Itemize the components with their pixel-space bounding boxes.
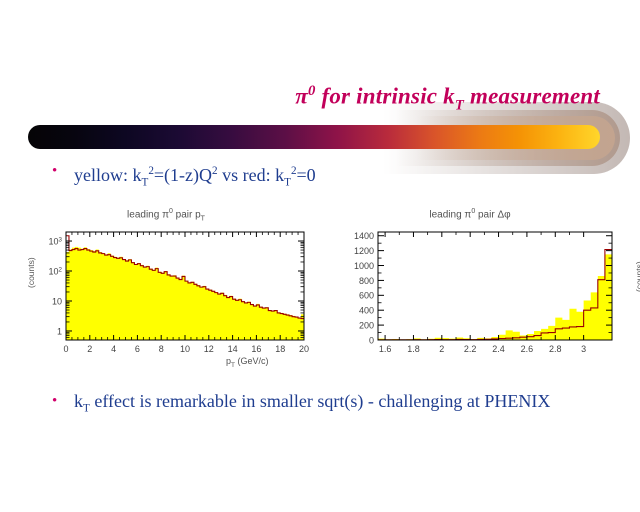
chart-left-title: leading π0 pair pT [18,208,314,222]
chart-right-title-tail: Δφ [497,209,510,220]
chart-right-title: leading π0 pair Δφ [322,208,618,220]
x-tick-label: 2 [87,344,92,354]
x-tick-label: 2 [439,344,444,354]
x-tick-label: 14 [228,344,238,354]
title-tail-text: measurement [464,84,600,109]
y-tick-label: 800 [359,276,374,286]
text-segment-3: =(1-z)Q [154,165,212,185]
y-tick-label: 1 [57,326,62,336]
chart-right-title-mid: pair [475,209,497,220]
accent-bar [28,125,600,149]
x-tick-label: 4 [111,344,116,354]
x-tick-label: 18 [275,344,285,354]
text-segment-1: T [142,177,149,189]
y-tick-label: 103 [49,236,63,247]
chart-right-ylabel: (counts) [634,261,640,292]
y-tick-label: 400 [359,306,374,316]
title-pi-superscript: 0 [308,83,316,99]
chart-left-ylabel: (counts) [26,257,36,288]
text-segment-8: =0 [297,165,316,185]
y-tick-label: 102 [49,266,63,277]
text-segment-0: k [74,391,83,411]
chart-left-canvas: 02468101214161820110102103 [18,206,314,368]
chart-left-xlabel-rest: (GeV/c) [235,356,269,366]
bullet-marker-icon: • [52,389,74,413]
bullet-marker-icon: • [52,159,74,183]
x-tick-label: 16 [251,344,261,354]
text-segment-5: vs red: k [218,165,285,185]
x-tick-label: 2.2 [464,344,477,354]
bullet-item-2-label: kT effect is remarkable in smaller sqrt(… [74,389,592,421]
x-tick-label: 10 [180,344,190,354]
text-segment-1: T [83,403,90,415]
histogram-line-red [378,250,612,340]
x-tick-label: 1.8 [407,344,420,354]
histogram-fill-yellow [66,247,304,340]
bullet-item-2: • kT effect is remarkable in smaller sqr… [52,389,592,421]
y-tick-label: 200 [359,321,374,331]
title-middle-text: for intrinsic k [316,84,455,109]
x-tick-label: 2.6 [521,344,534,354]
y-tick-label: 10 [52,296,62,306]
chart-left-xlabel: pT (GeV/c) [226,356,268,369]
title-pi-symbol: π [295,84,308,109]
x-tick-label: 0 [63,344,68,354]
bullet-item-1-label: yellow: kT2=(1-z)Q2 vs red: kT2=0 [74,159,572,195]
x-tick-label: 8 [159,344,164,354]
chart-right-title-pre: leading [429,209,464,220]
bullet-item-1: • yellow: kT2=(1-z)Q2 vs red: kT2=0 [52,159,572,195]
x-tick-label: 2.4 [492,344,505,354]
x-tick-label: 3 [581,344,586,354]
y-tick-label: 1200 [354,246,374,256]
chart-left-title-sub: T [201,215,205,222]
text-segment-6: T [284,177,291,189]
y-tick-label: 0 [369,335,374,345]
chart-left-title-mid: pair p [173,209,201,220]
chart-left-title-pre: leading [127,209,162,220]
chart-leading-pi0-pair-dphi: leading π0 pair Δφ (counts) 1.61.822.22.… [322,206,618,368]
x-tick-label: 20 [299,344,309,354]
x-tick-label: 1.6 [379,344,392,354]
x-tick-label: 6 [135,344,140,354]
y-tick-label: 1400 [354,231,374,241]
figure-panel: leading π0 pair pT (counts) pT (GeV/c) 0… [18,206,622,368]
title-k-subscript: T [455,97,464,113]
text-segment-2: effect is remarkable in smaller sqrt(s) … [90,391,551,411]
chart-leading-pi0-pair-pt: leading π0 pair pT (counts) pT (GeV/c) 0… [18,206,314,368]
y-tick-label: 600 [359,291,374,301]
chart-right-canvas: 1.61.822.22.42.62.8302004006008001000120… [322,206,618,368]
x-tick-label: 2.8 [549,344,562,354]
page-title: π0 for intrinsic kT measurement [40,78,600,118]
text-segment-0: yellow: k [74,165,142,185]
chart-left-title-pi: π [162,209,169,220]
y-tick-label: 1000 [354,261,374,271]
x-tick-label: 12 [204,344,214,354]
